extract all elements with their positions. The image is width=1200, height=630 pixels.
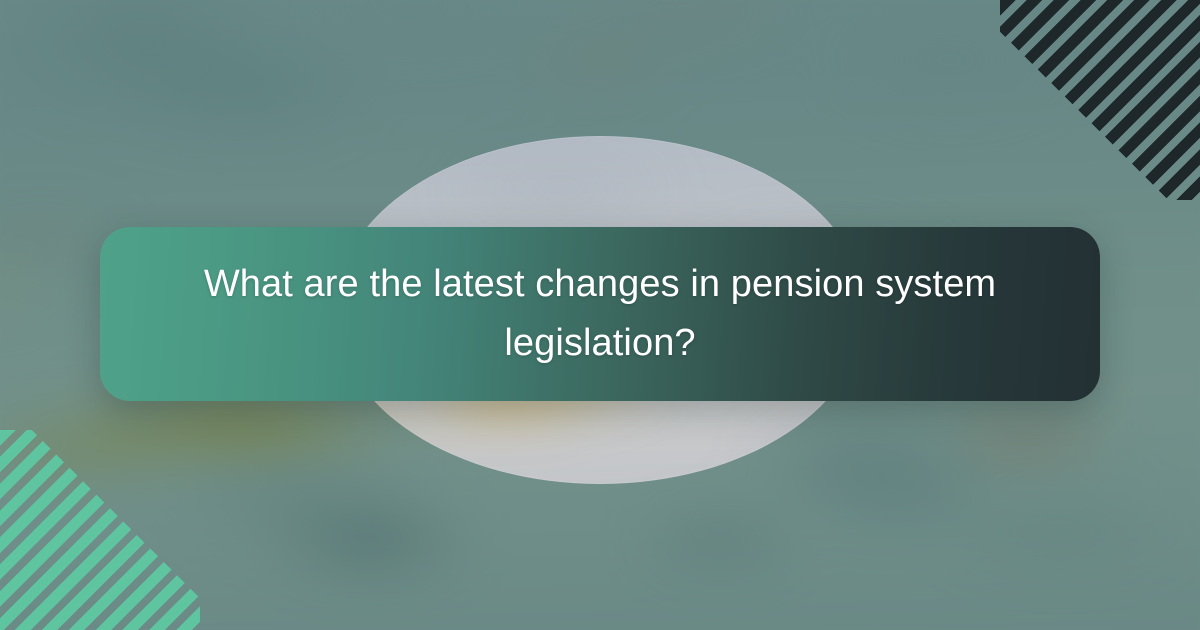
page-title: What are the latest changes in pension s… bbox=[100, 255, 1100, 373]
corner-dash-svg bbox=[1000, 0, 1200, 200]
dashed-corner-dark-icon bbox=[1000, 0, 1200, 200]
poster-canvas: What are the latest changes in pension s… bbox=[0, 0, 1200, 630]
dashed-corner-mint-icon bbox=[0, 430, 200, 630]
corner-dash-svg bbox=[0, 430, 200, 630]
headline-card: What are the latest changes in pension s… bbox=[100, 227, 1100, 401]
